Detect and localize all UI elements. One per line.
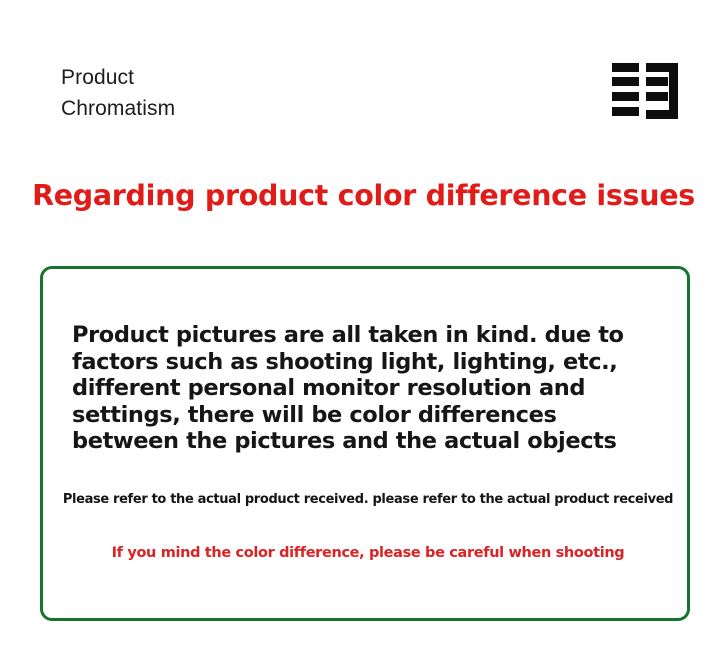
notice-body-text: Product pictures are all taken in kind. … — [72, 322, 662, 455]
product-chromatism-notice: Product Chromatism — [0, 0, 727, 662]
notice-warning-text: If you mind the color difference, please… — [43, 543, 693, 563]
page-header: Product Chromatism — [0, 0, 727, 150]
list-bracket-logo-icon — [610, 62, 680, 120]
brand-title: Product Chromatism — [61, 62, 175, 124]
color-difference-notice-card: Product pictures are all taken in kind. … — [40, 266, 690, 621]
page-title: Regarding product color difference issue… — [0, 176, 727, 216]
notice-note-text: Please refer to the actual product recei… — [43, 491, 693, 509]
